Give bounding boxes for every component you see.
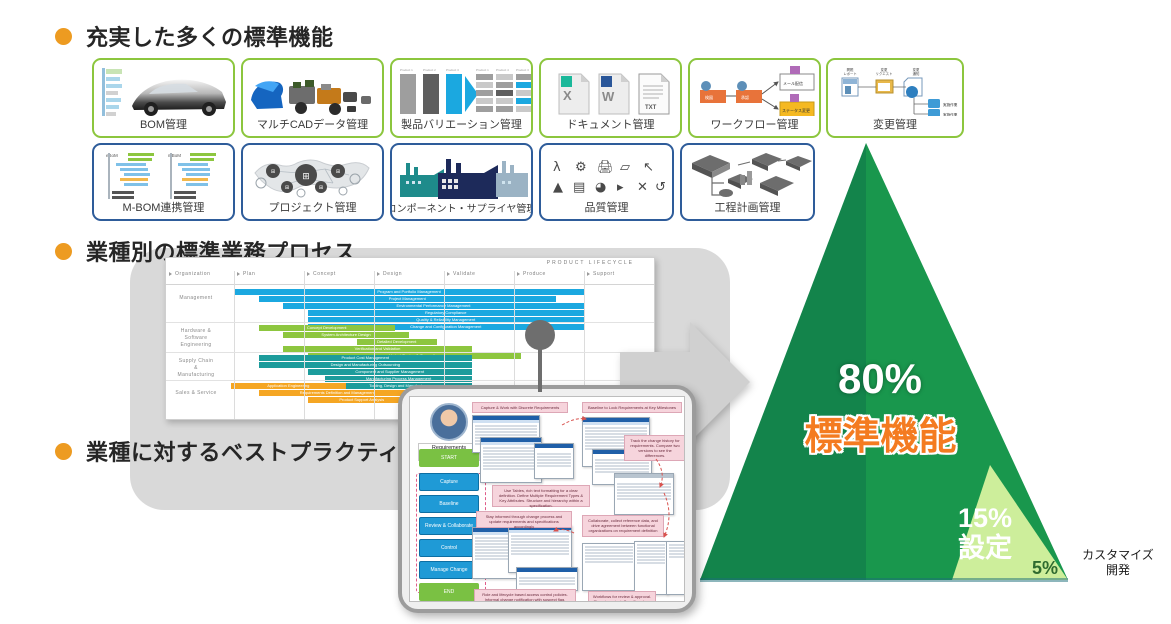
tile-art-workflow: 検図 承認 メール配信 ステータス変更 (690, 64, 819, 116)
tile-label: 工程計画管理 (715, 199, 781, 219)
caret-icon (169, 272, 172, 276)
tile-label: BOM管理 (140, 116, 187, 136)
svg-text:Product 4: Product 4 (496, 68, 509, 72)
plm-row-label-line: Hardware & (168, 328, 224, 335)
plm-row-label: Supply Chain&Manufacturing (168, 358, 224, 379)
tile-label: 変更管理 (873, 116, 917, 136)
plm-row-label-line: Manufacturing (168, 372, 224, 379)
plm-column-label: Organization (175, 271, 211, 277)
tile-product-variation-management[interactable]: Product 1Product 2Product 3 Product 1Pro… (390, 58, 533, 138)
bullet-dot-icon (55, 28, 72, 45)
plm-column-organization: Organization (166, 271, 234, 285)
tile-art-variation: Product 1Product 2Product 3 Product 1Pro… (392, 64, 531, 116)
plm-segment: Requirements Definition and Management (259, 390, 417, 396)
svg-text:ステータス変更: ステータス変更 (782, 107, 810, 113)
tile-art-change: 問題レポート 変更リクエスト 変更通知 実施作業 実施作業 (828, 64, 962, 116)
tile-label: プロジェクト管理 (269, 199, 357, 219)
svg-text:▸: ▸ (617, 180, 624, 195)
plm-column-validate: Validate (444, 271, 514, 285)
tile-art-exploded-cad (243, 64, 382, 116)
svg-text:実施作業: 実施作業 (943, 112, 958, 116)
plm-column-label: Concept (313, 271, 336, 277)
tile-art-quality-icons: λ⚙🖨 ▱↖ ▲▤◕ ▸✕↺ (541, 149, 672, 199)
tile-label: 製品バリエーション管理 (401, 116, 522, 136)
svg-text:◕: ◕ (595, 180, 606, 195)
plm-column-divider (304, 271, 305, 419)
plm-column-label: Plan (243, 271, 255, 277)
pyramid-label-standard: 標準機能 (788, 405, 973, 460)
svg-text:W: W (602, 89, 615, 104)
bullet-label: 充実した多くの標準機能 (86, 20, 334, 52)
svg-text:▱: ▱ (620, 160, 630, 175)
svg-text:Product 2: Product 2 (423, 68, 436, 72)
caret-icon (377, 272, 380, 276)
plm-row-divider (166, 380, 654, 381)
plm-column-produce: Produce (514, 271, 584, 285)
plm-column-design: Design (374, 271, 444, 285)
svg-text:実施作業: 実施作業 (943, 102, 958, 107)
plm-column-support: Support (584, 271, 655, 285)
plm-column-label: Produce (523, 271, 546, 277)
caret-icon (307, 272, 310, 276)
plm-segment: Environmental Performance Management (283, 303, 584, 309)
svg-text:▤: ▤ (573, 180, 585, 195)
tile-workflow-management[interactable]: 検図 承認 メール配信 ステータス変更 ワークフロー管理 (688, 58, 821, 138)
pyramid-label-customize: カスタマイズ 開発 (1068, 548, 1168, 578)
tile-label: 品質管理 (585, 199, 629, 219)
plm-column-divider (234, 271, 235, 419)
plm-column-label: Support (593, 271, 615, 277)
tile-label: M-BOM連携管理 (123, 199, 205, 219)
plm-row-label-line: Management (168, 295, 224, 302)
plm-row-label: Hardware &SoftwareEngineering (168, 328, 224, 349)
tile-art-factories (392, 149, 531, 199)
plm-column-concept: Concept (304, 271, 374, 285)
svg-text:検図: 検図 (705, 94, 713, 100)
slide-canvas: 充実した多くの標準機能 (0, 0, 1171, 624)
svg-text:↺: ↺ (655, 180, 666, 195)
plm-column-plan: Plan (234, 271, 304, 285)
svg-text:λ: λ (553, 160, 561, 175)
svg-text:▲: ▲ (553, 180, 563, 195)
svg-text:↖: ↖ (643, 160, 654, 175)
plm-segment: Detailed Development (357, 339, 438, 345)
tile-mbom-management[interactable]: eBoM mBoM (92, 143, 235, 221)
caret-icon (237, 272, 240, 276)
plm-row-label: Sales & Service (168, 390, 224, 397)
plm-segment: Program and Portfolio Management (234, 289, 584, 295)
svg-text:TXT: TXT (645, 105, 657, 111)
bullet-standard-features: 充実した多くの標準機能 (55, 20, 334, 52)
svg-text:⊞: ⊞ (285, 185, 289, 191)
svg-text:🖨: 🖨 (597, 160, 614, 175)
plm-column-label: Design (383, 271, 402, 277)
bullet-dot-icon (55, 243, 72, 260)
plm-segment: Application Engineering (231, 383, 346, 389)
tile-multicad-management[interactable]: マルチCADデータ管理 (241, 58, 384, 138)
screenshot-inner: Requirements Engineer STARTCaptureBaseli… (409, 396, 685, 602)
plm-row-label: Management (168, 295, 224, 302)
bullet-best-practices: 業種に対するベストプラクティス (55, 435, 423, 467)
svg-text:⊞: ⊞ (319, 185, 323, 191)
bullet-dot-icon (55, 443, 72, 460)
tile-component-supplier-management[interactable]: コンポーネント・サプライヤ管理 (390, 143, 533, 221)
svg-text:レポート: レポート (843, 71, 857, 76)
tile-art-globe-network: ⊞⊞ ⊞⊞⊞ (243, 149, 382, 199)
plm-column-label: Validate (453, 271, 476, 277)
caret-icon (517, 272, 520, 276)
plm-row-divider (166, 352, 654, 353)
svg-text:⊞: ⊞ (336, 169, 340, 175)
svg-text:mBoM: mBoM (168, 153, 181, 158)
requirements-workflow-screenshot[interactable]: Requirements Engineer STARTCaptureBaseli… (398, 385, 696, 613)
bullet-label: 業種に対するベストプラクティス (86, 435, 423, 467)
pyramid-label-customize-line2: 開発 (1068, 563, 1168, 578)
svg-text:通知: 通知 (913, 71, 920, 76)
plm-segment: Regulatory Compliance (308, 310, 585, 316)
plm-row-label-line: & (168, 365, 224, 372)
pyramid-label-setting: 設定 (940, 533, 1030, 563)
tile-art-car (94, 64, 233, 116)
tile-change-management[interactable]: 問題レポート 変更リクエスト 変更通知 実施作業 実施作業 (826, 58, 964, 138)
svg-text:Product 1: Product 1 (476, 68, 489, 72)
caret-icon (447, 272, 450, 276)
plm-segment: Design and Manufacturing Outsourcing (259, 362, 473, 368)
svg-text:メール配信: メール配信 (783, 80, 803, 86)
plm-row-label-line: Supply Chain (168, 358, 224, 365)
pyramid-label-customize-line1: カスタマイズ (1068, 548, 1168, 563)
svg-text:Product 1: Product 1 (400, 68, 413, 72)
tile-art-mbom: eBoM mBoM (94, 149, 233, 199)
plm-segment: Product Cost Management (259, 355, 473, 361)
svg-text:⊞: ⊞ (302, 171, 310, 181)
tile-bom-management[interactable]: BOM管理 (92, 58, 235, 138)
svg-text:X: X (563, 88, 572, 103)
plm-segment: Component and Supplier Management (308, 369, 473, 375)
plm-row-label-line: Sales & Service (168, 390, 224, 397)
svg-text:Product 3: Product 3 (516, 68, 529, 72)
tile-label: コンポーネント・サプライヤ管理 (390, 200, 533, 219)
svg-text:リクエスト: リクエスト (876, 71, 893, 76)
svg-text:⚙: ⚙ (575, 160, 587, 175)
svg-text:⊞: ⊞ (271, 169, 275, 175)
plm-row-divider (166, 322, 654, 323)
tile-label: マルチCADデータ管理 (257, 116, 368, 136)
tile-project-management[interactable]: ⊞⊞ ⊞⊞⊞ プロジェクト管理 (241, 143, 384, 221)
connector-arrows (410, 397, 685, 602)
pyramid-percent-5: 5% (1022, 558, 1068, 579)
plm-row-label-line: Engineering (168, 342, 224, 349)
pin-stem (538, 346, 542, 392)
caret-icon (587, 272, 590, 276)
plm-column-divider (374, 271, 375, 419)
plm-segment: Manufacturing Process Management (325, 376, 472, 382)
tile-document-management[interactable]: X W TXT ドキュメント管理 (539, 58, 682, 138)
tile-label: ワークフロー管理 (711, 116, 799, 136)
tile-quality-management[interactable]: λ⚙🖨 ▱↖ ▲▤◕ ▸✕↺ 品質管理 (539, 143, 674, 221)
plm-row-label-line: Software (168, 335, 224, 342)
svg-text:✕: ✕ (637, 180, 648, 195)
tile-art-documents: X W TXT (541, 64, 680, 116)
pyramid-percent-80: 80% (800, 355, 960, 403)
svg-text:Product 3: Product 3 (446, 68, 459, 72)
tile-label: ドキュメント管理 (567, 116, 655, 136)
svg-text:承認: 承認 (741, 94, 749, 100)
plm-segment: System Architecture Design (283, 332, 409, 338)
pyramid-percent-15: 15% (940, 503, 1030, 533)
svg-text:eBoM: eBoM (106, 153, 118, 158)
plm-location-pin (525, 320, 555, 350)
